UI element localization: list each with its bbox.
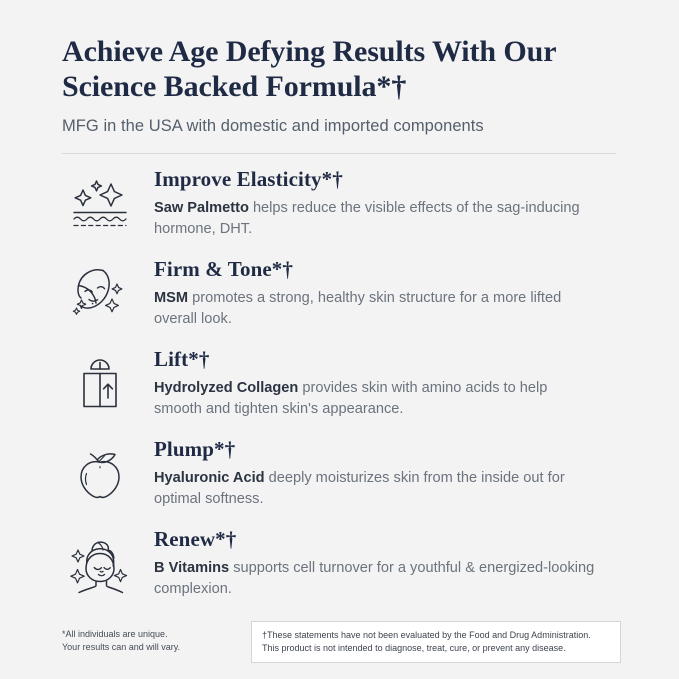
feature-description: Hydrolyzed Collagen provides skin with a… [154, 378, 599, 419]
page-title: Achieve Age Defying Results With Our Sci… [62, 34, 602, 105]
footer: *All individuals are unique. Your result… [62, 621, 621, 663]
feature-ingredient: B Vitamins [154, 560, 229, 576]
fda-disclaimer-box: †These statements have not been evaluate… [251, 621, 621, 663]
feature-description: B Vitamins supports cell turnover for a … [154, 558, 599, 599]
feature-item: Lift*† Hydrolyzed Collagen provides skin… [62, 346, 617, 436]
feature-item: Plump*† Hyaluronic Acid deeply moisturiz… [62, 436, 617, 526]
peach-icon [62, 436, 138, 504]
feature-item: Renew*† B Vitamins supports cell turnove… [62, 526, 617, 616]
results-disclaimer: *All individuals are unique. Your result… [62, 621, 180, 654]
elevator-up-arrow-icon [62, 346, 138, 414]
feature-title: Plump*† [154, 438, 599, 461]
feature-item: Firm & Tone*† MSM promotes a strong, hea… [62, 256, 617, 346]
feature-title: Improve Elasticity*† [154, 168, 599, 191]
feature-description: Hyaluronic Acid deeply moisturizes skin … [154, 468, 599, 509]
feature-body: Plump*† Hyaluronic Acid deeply moisturiz… [138, 436, 599, 510]
feature-description: Saw Palmetto helps reduce the visible ef… [154, 198, 599, 239]
feature-body: Lift*† Hydrolyzed Collagen provides skin… [138, 346, 599, 420]
feature-ingredient: MSM [154, 290, 188, 306]
feature-list: Improve Elasticity*† Saw Palmetto helps … [62, 166, 617, 616]
feature-ingredient: Hydrolyzed Collagen [154, 380, 298, 396]
feature-ingredient: Saw Palmetto [154, 200, 249, 216]
feature-description: MSM promotes a strong, healthy skin stru… [154, 288, 599, 329]
promo-panel: Achieve Age Defying Results With Our Sci… [0, 0, 679, 679]
tilted-face-sparkles-icon [62, 256, 138, 324]
feature-item: Improve Elasticity*† Saw Palmetto helps … [62, 166, 617, 256]
feature-description-text: promotes a strong, healthy skin structur… [154, 290, 561, 327]
face-towel-wrap-sparkles-icon [62, 526, 138, 594]
feature-body: Renew*† B Vitamins supports cell turnove… [138, 526, 599, 600]
page-subtitle: MFG in the USA with domestic and importe… [62, 115, 617, 137]
feature-title: Lift*† [154, 348, 599, 371]
feature-body: Firm & Tone*† MSM promotes a strong, hea… [138, 256, 599, 330]
header-divider [62, 153, 616, 154]
feature-ingredient: Hyaluronic Acid [154, 470, 265, 486]
feature-title: Renew*† [154, 528, 599, 551]
sparkles-skin-lines-icon [62, 166, 138, 232]
fda-disclaimer-line-2: This product is not intended to diagnose… [262, 642, 610, 655]
feature-title: Firm & Tone*† [154, 258, 599, 281]
fda-disclaimer-line-1: †These statements have not been evaluate… [262, 629, 610, 642]
feature-body: Improve Elasticity*† Saw Palmetto helps … [138, 166, 599, 240]
